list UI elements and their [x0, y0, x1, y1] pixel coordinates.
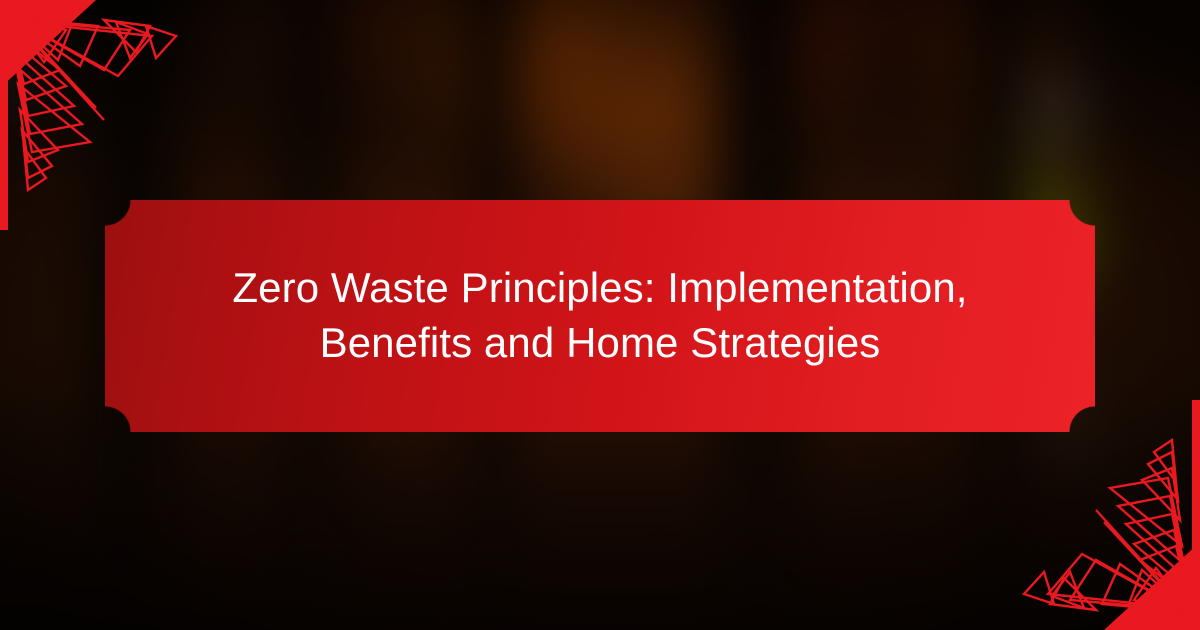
banner-canvas: Zero Waste Principles: Implementation, B…: [0, 0, 1200, 630]
title-banner-card: Zero Waste Principles: Implementation, B…: [105, 200, 1095, 432]
page-title: Zero Waste Principles: Implementation, B…: [105, 261, 1095, 370]
